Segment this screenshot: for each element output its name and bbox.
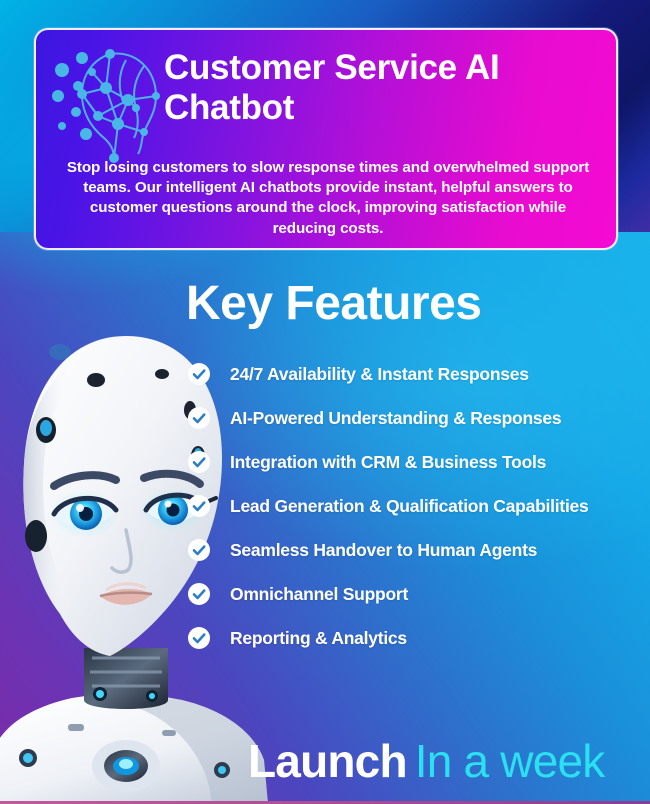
check-circle-icon xyxy=(188,363,210,385)
features-list: 24/7 Availability & Instant Responses AI… xyxy=(188,352,636,660)
feature-item: Omnichannel Support xyxy=(188,572,636,616)
check-circle-icon xyxy=(188,627,210,649)
feature-item: AI-Powered Understanding & Responses xyxy=(188,396,636,440)
feature-item: 24/7 Availability & Instant Responses xyxy=(188,352,636,396)
feature-label: Reporting & Analytics xyxy=(230,628,407,649)
header-card: Customer Service AI Chatbot Stop losing … xyxy=(34,28,618,250)
feature-label: Integration with CRM & Business Tools xyxy=(230,452,546,473)
check-circle-icon xyxy=(188,407,210,429)
feature-label: Lead Generation & Qualification Capabili… xyxy=(230,496,589,517)
feature-item: Reporting & Analytics xyxy=(188,616,636,660)
check-circle-icon xyxy=(188,495,210,517)
feature-label: Omnichannel Support xyxy=(230,584,408,605)
feature-label: Seamless Handover to Human Agents xyxy=(230,540,537,561)
header-subtitle: Stop losing customers to slow response t… xyxy=(58,158,598,239)
poster-canvas: Customer Service AI Chatbot Stop losing … xyxy=(0,0,650,804)
feature-item: Lead Generation & Qualification Capabili… xyxy=(188,484,636,528)
check-circle-icon xyxy=(188,451,210,473)
footer-timeframe-text: In a week xyxy=(415,734,605,788)
ai-head-network-icon xyxy=(48,38,178,166)
feature-item: Integration with CRM & Business Tools xyxy=(188,440,636,484)
footer-launch-text: Launch xyxy=(248,734,407,788)
feature-label: 24/7 Availability & Instant Responses xyxy=(230,364,529,385)
check-circle-icon xyxy=(188,583,210,605)
feature-item: Seamless Handover to Human Agents xyxy=(188,528,636,572)
feature-label: AI-Powered Understanding & Responses xyxy=(230,408,561,429)
page-title: Customer Service AI Chatbot xyxy=(164,48,544,128)
features-heading: Key Features xyxy=(186,276,481,331)
footer-tagline: Launch In a week xyxy=(248,734,604,788)
header-text-block: Customer Service AI Chatbot xyxy=(164,48,598,128)
check-circle-icon xyxy=(188,539,210,561)
